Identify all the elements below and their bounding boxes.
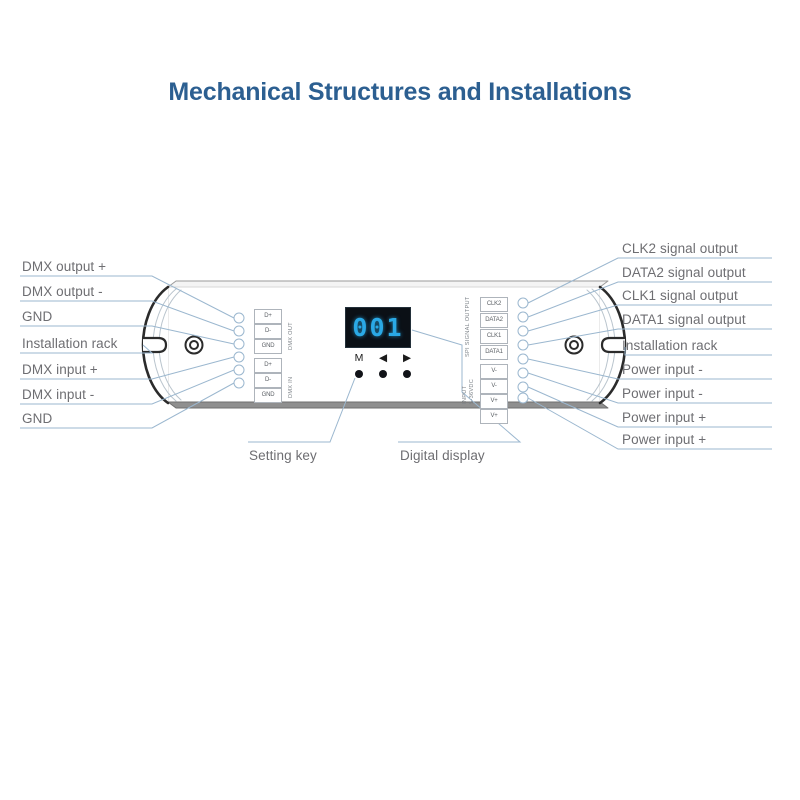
key-label-next: ▶ xyxy=(398,352,416,364)
key-label-prev: ◀ xyxy=(374,352,392,364)
group-label-spi-output: SPI SIGNAL OUTPUT xyxy=(465,296,471,357)
digital-display: 001 xyxy=(345,307,411,348)
port-vplus-1: V+ xyxy=(480,394,508,409)
port-dmx-out-dplus: D+ xyxy=(254,309,282,324)
callout-dmx-input-plus: DMX input + xyxy=(22,362,98,377)
port-dmx-in-gnd: GND xyxy=(254,388,282,403)
display-value: 001 xyxy=(346,308,410,347)
callout-dmx-output-plus: DMX output + xyxy=(22,259,106,274)
callout-installation-rack-left: Installation rack xyxy=(22,336,118,351)
callout-clk1-signal-output: CLK1 signal output xyxy=(622,288,738,303)
callout-dmx-input-minus: DMX input - xyxy=(22,387,94,402)
port-dmx-out-gnd: GND xyxy=(254,339,282,354)
port-vplus-2: V+ xyxy=(480,409,508,424)
key-button-next[interactable] xyxy=(403,370,411,378)
port-clk2: CLK2 xyxy=(480,297,508,312)
device-diagram: 001 M ◀ ▶ D+ D- GND D+ D- GND DMX OUT DM… xyxy=(0,0,800,800)
port-clk1: CLK1 xyxy=(480,329,508,344)
key-button-prev[interactable] xyxy=(379,370,387,378)
callout-gnd-in: GND xyxy=(22,411,52,426)
key-label-m: M xyxy=(350,352,368,364)
port-data2: DATA2 xyxy=(480,313,508,328)
callout-power-input-plus-2: Power input + xyxy=(622,432,706,447)
group-label-input: INPUT xyxy=(462,386,468,404)
port-vminus-1: V- xyxy=(480,364,508,379)
callout-power-input-plus-1: Power input + xyxy=(622,410,706,425)
callout-dmx-output-minus: DMX output - xyxy=(22,284,103,299)
callout-setting-key: Setting key xyxy=(249,448,317,463)
key-button-m[interactable] xyxy=(355,370,363,378)
port-dmx-in-dplus: D+ xyxy=(254,358,282,373)
port-data1: DATA1 xyxy=(480,345,508,360)
port-dmx-in-dminus: D- xyxy=(254,373,282,388)
group-label-input-voltage: 5-36VDC xyxy=(469,379,475,404)
callout-power-input-minus-1: Power input - xyxy=(622,362,703,377)
callout-installation-rack-right: Installation rack xyxy=(622,338,718,353)
group-label-dmx-out: DMX OUT xyxy=(288,322,294,350)
callout-data2-signal-output: DATA2 signal output xyxy=(622,265,746,280)
callout-gnd-out: GND xyxy=(22,309,52,324)
callout-power-input-minus-2: Power input - xyxy=(622,386,703,401)
callout-data1-signal-output: DATA1 signal output xyxy=(622,312,746,327)
group-label-dmx-in: DMX IN xyxy=(288,377,294,398)
port-dmx-out-dminus: D- xyxy=(254,324,282,339)
callout-digital-display: Digital display xyxy=(400,448,485,463)
port-vminus-2: V- xyxy=(480,379,508,394)
callout-clk2-signal-output: CLK2 signal output xyxy=(622,241,738,256)
